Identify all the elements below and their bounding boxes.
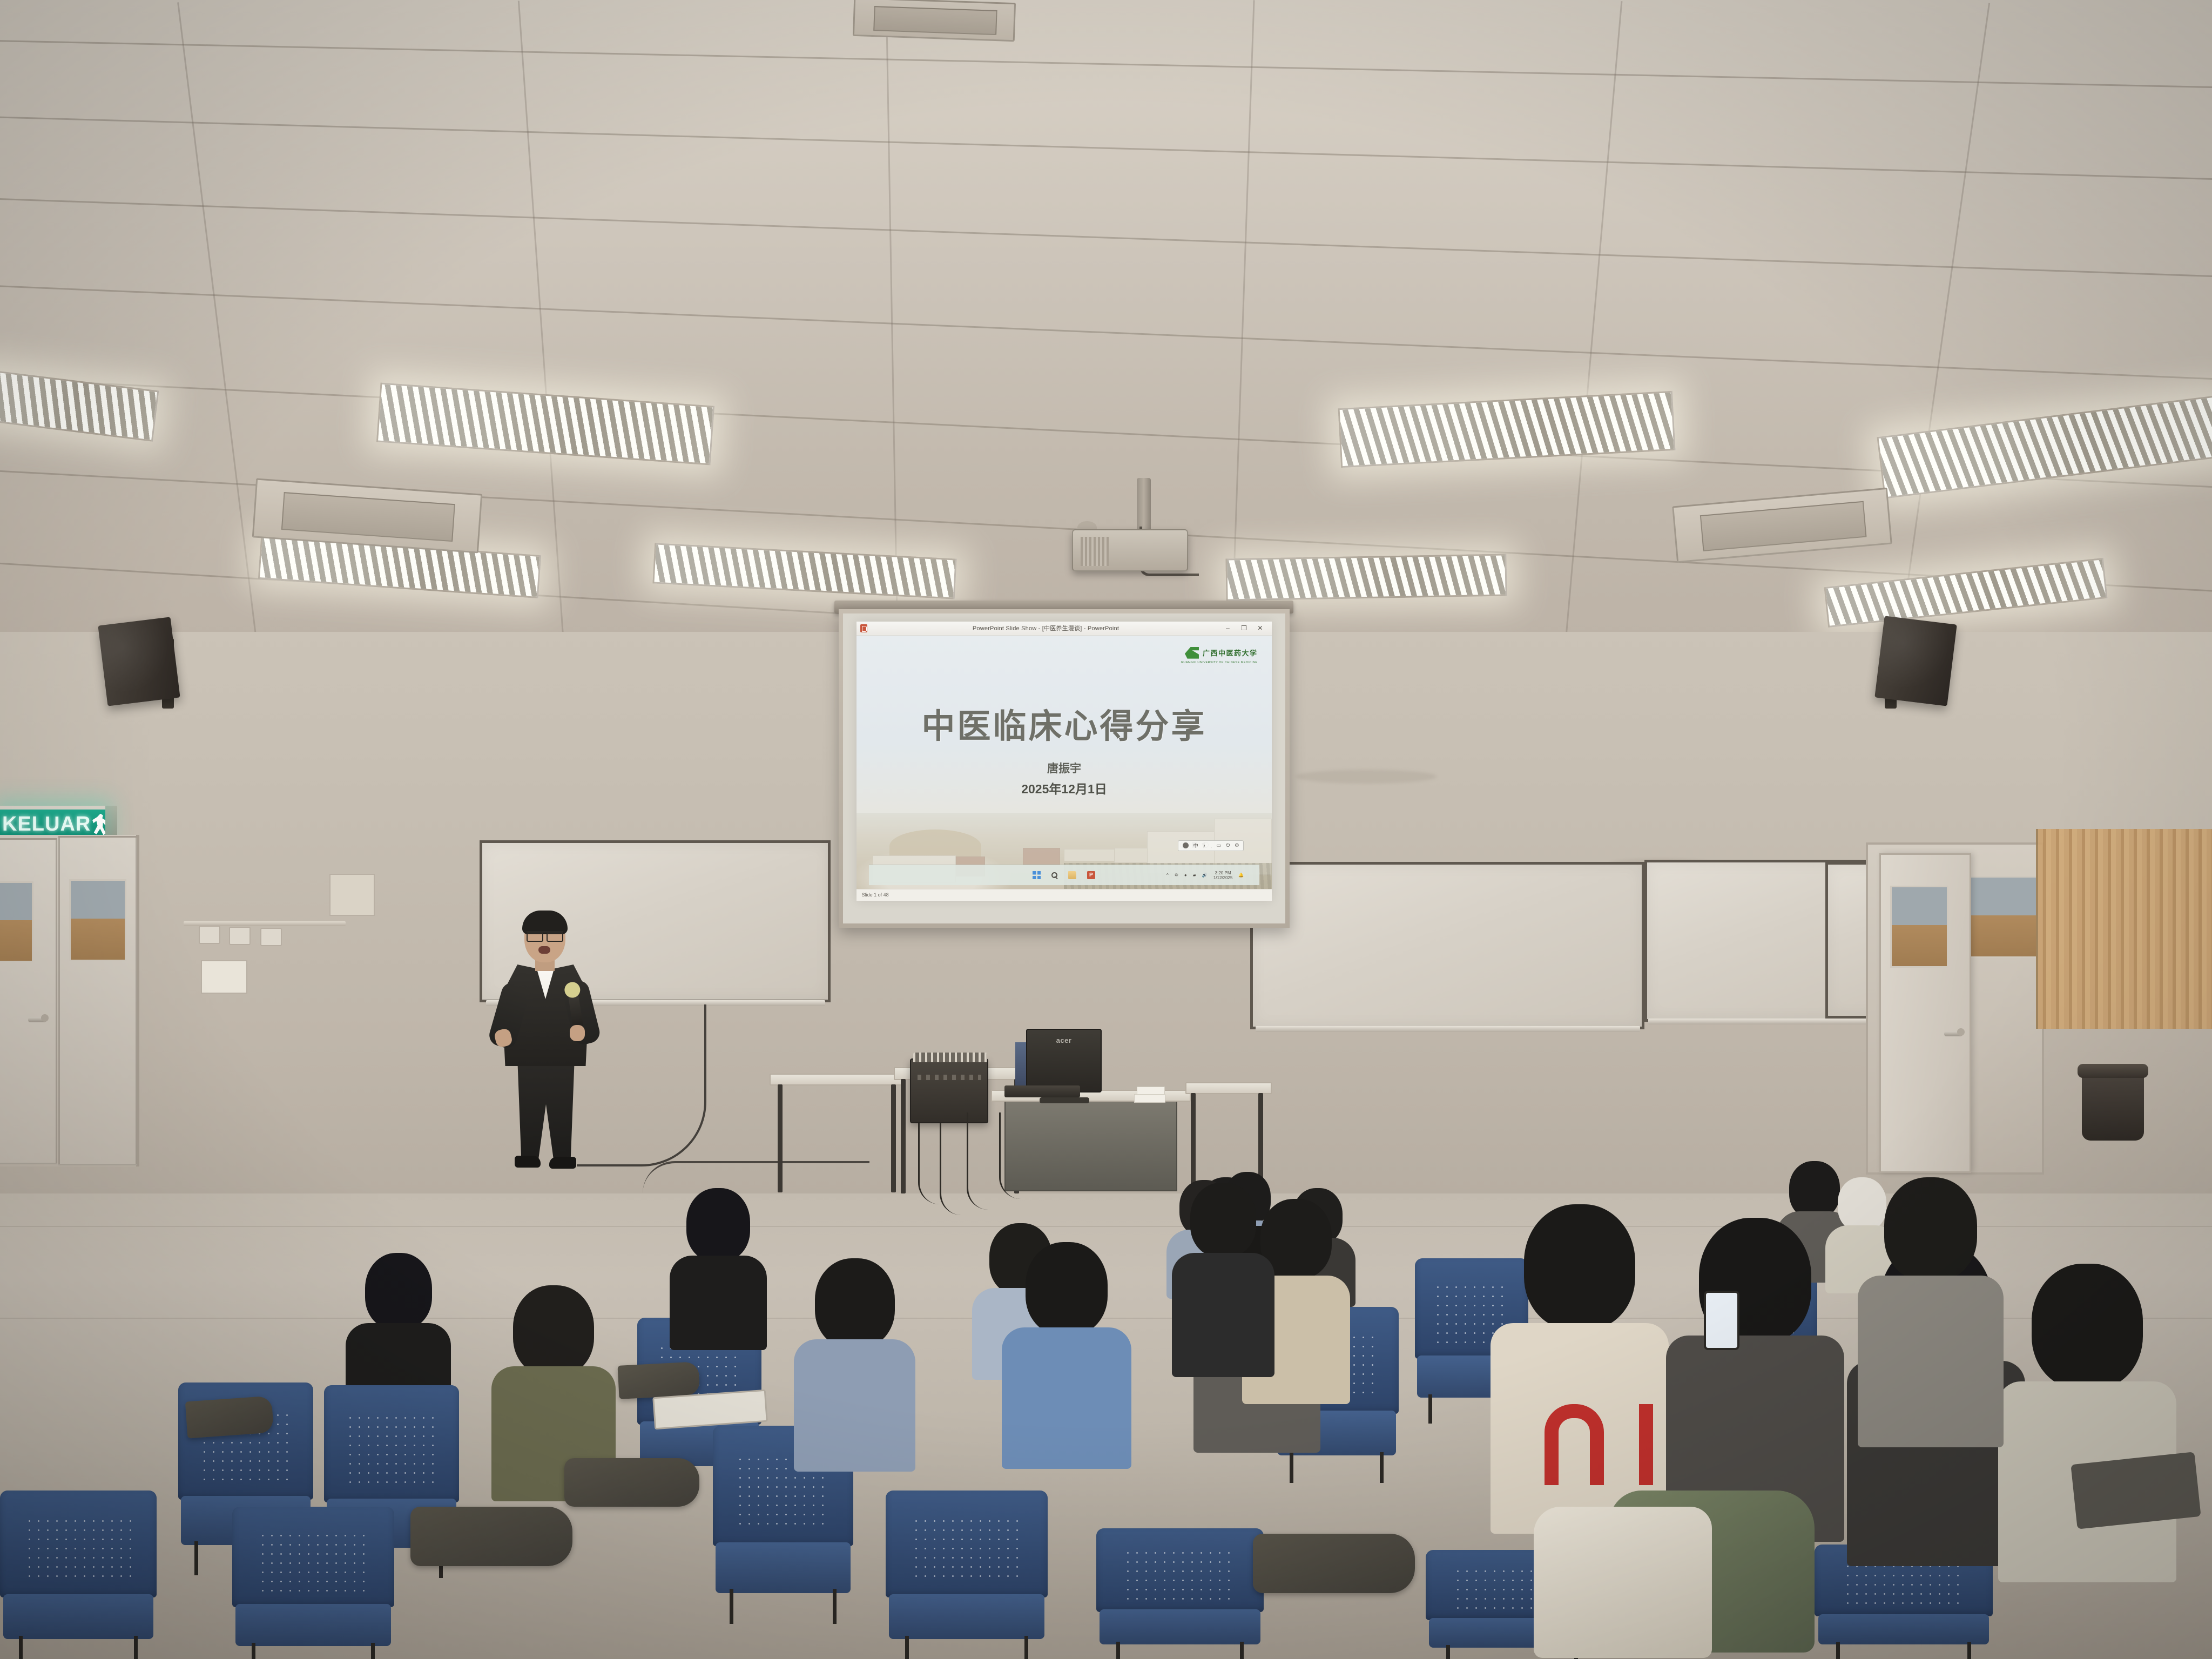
volume-icon[interactable]: 🔊: [1202, 873, 1208, 878]
battery-icon[interactable]: ▰: [1193, 873, 1196, 878]
slide-date: 2025年12月1日: [857, 779, 1272, 797]
logo-english-name: GUANGXI UNIVERSITY OF CHINESE MEDICINE: [1181, 661, 1258, 664]
wall-speaker-right: [1874, 616, 1957, 706]
ime-language-bar: 中 ♪ , ▭ ⏻ ⚙: [1178, 840, 1244, 851]
exit-sign-label: KELUAR: [2, 813, 91, 836]
wood-wall-panel: [2036, 829, 2212, 1029]
file-explorer-icon[interactable]: [1068, 871, 1076, 879]
eyeglasses-icon: [527, 931, 563, 938]
clock-time: 3:20 PM: [1213, 871, 1233, 875]
powerpoint-icon[interactable]: [1087, 871, 1095, 879]
ime-softkeyboard-icon[interactable]: ▭: [1217, 842, 1222, 848]
chair-tablet-arm: [1253, 1534, 1415, 1593]
wall-socket[interactable]: [260, 928, 282, 946]
wall-socket[interactable]: [199, 926, 220, 944]
onedrive-icon[interactable]: ●: [1184, 873, 1187, 878]
presenter-legs: [514, 1060, 578, 1161]
chair-tablet-arm: [617, 1361, 700, 1399]
chair-tablet-arm: [564, 1458, 699, 1507]
audience-member: [1002, 1242, 1131, 1469]
audience-member: [1172, 1183, 1274, 1377]
jacket-on-chair: [1534, 1507, 1712, 1658]
microphone-cable: [577, 1004, 706, 1166]
slide-author: 唐振宇: [857, 760, 1272, 776]
whiteboard-tray-center-right: [1256, 1026, 1640, 1032]
monitor-brand-label: acer: [1027, 1036, 1101, 1044]
notification-icon[interactable]: 🔔: [1238, 873, 1244, 878]
powerpoint-title-bar: PowerPoint Slide Show - [中医养生漫谈] - Power…: [857, 622, 1272, 636]
system-tray: ^ ♽ ● ▰ 🔊 3:20 PM 1/12/2025 🔔: [1166, 871, 1244, 880]
whiteboard-center-right: [1250, 862, 1644, 1029]
wall-socket[interactable]: [229, 927, 251, 945]
projection-screen: PowerPoint Slide Show - [中医养生漫谈] - Power…: [839, 609, 1290, 928]
chair-tablet-arm: [410, 1507, 572, 1566]
no-network-icon[interactable]: ♽: [1175, 873, 1178, 878]
cable-bundle: [999, 1112, 1037, 1199]
audience-member: [1998, 1264, 2176, 1582]
tablet-device[interactable]: [2071, 1452, 2201, 1529]
audience-member: [670, 1188, 767, 1350]
presenter-mouth: [538, 946, 550, 954]
table-leg: [901, 1079, 906, 1193]
ceiling: [0, 0, 2212, 637]
shirt-graphic-n: [1545, 1404, 1604, 1485]
whiteboard-tray-right: [1648, 1019, 1875, 1024]
plastic-chair: [842, 1042, 899, 1137]
lecture-chair[interactable]: [232, 1507, 394, 1659]
minimize-button[interactable]: –: [1224, 625, 1231, 631]
exit-sign: KELUAR: [0, 806, 105, 839]
air-conditioning-vent: [853, 0, 1016, 42]
door-left-window-a: [0, 881, 33, 962]
running-person-exit-icon: [91, 814, 105, 835]
slide-counter: Slide 1 of 48: [862, 892, 889, 898]
wall-speaker-left: [98, 617, 180, 706]
audience-member: [1858, 1177, 2004, 1447]
door-right-window-open: [1890, 886, 1948, 968]
ime-settings-icon[interactable]: ⚙: [1235, 842, 1239, 848]
user-avatar-icon[interactable]: [1183, 842, 1189, 848]
start-icon[interactable]: [1033, 871, 1041, 879]
lecture-hall-photo: KELUAR PowerPoint Sli: [0, 0, 2212, 1659]
wall-sticker-group: [329, 874, 375, 916]
door-right-window-fixed: [1969, 876, 2038, 958]
restore-button[interactable]: ❐: [1240, 625, 1247, 631]
lecture-chair[interactable]: [1096, 1528, 1264, 1659]
logo-chinese-name: 广西中医药大学: [1203, 648, 1258, 658]
search-icon[interactable]: [1051, 872, 1057, 878]
ime-mode-chinese[interactable]: 中: [1193, 842, 1198, 849]
powerpoint-window: PowerPoint Slide Show - [中医养生漫谈] - Power…: [857, 622, 1272, 901]
window-title: PowerPoint Slide Show - [中医养生漫谈] - Power…: [867, 624, 1225, 632]
desktop-monitor: acer: [1026, 1029, 1102, 1092]
ime-halfwidth-icon[interactable]: ,: [1210, 843, 1212, 848]
lecture-chair[interactable]: [886, 1491, 1048, 1659]
ceiling-light-fixture: [1225, 554, 1507, 601]
exit-sign-mount: [105, 806, 117, 839]
trash-bin: [2082, 1069, 2144, 1141]
powerpoint-icon: [860, 624, 867, 632]
table-leg: [778, 1084, 783, 1192]
university-logo: 广西中医药大学 GUANGXI UNIVERSITY OF CHINESE ME…: [1181, 646, 1258, 664]
leaf-logo-icon: [1184, 646, 1200, 660]
chevron-up-icon[interactable]: ^: [1166, 873, 1169, 878]
shirt-graphic-bar: [1639, 1404, 1653, 1485]
ime-punctuation-icon[interactable]: ♪: [1203, 843, 1206, 848]
wall-notice: [201, 960, 247, 994]
ime-voice-icon[interactable]: ⏻: [1226, 842, 1230, 848]
close-button[interactable]: ✕: [1257, 625, 1263, 631]
door-left-handle-a[interactable]: [28, 1017, 46, 1022]
clock-date: 1/12/2025: [1213, 875, 1233, 880]
door-left-window-b: [69, 879, 126, 961]
ceiling-projector: [1072, 529, 1188, 571]
chair-tablet-arm: [185, 1396, 274, 1439]
windows-taskbar: ^ ♽ ● ▰ 🔊 3:20 PM 1/12/2025 🔔: [869, 865, 1260, 885]
smartphone[interactable]: [1704, 1291, 1739, 1350]
side-table-right: [1185, 1082, 1272, 1094]
slide-title: 中医临床心得分享: [857, 699, 1272, 747]
door-right-handle[interactable]: [1944, 1031, 1963, 1036]
presenter-shoe-right: [549, 1157, 576, 1169]
audience-member: [794, 1258, 915, 1472]
lecture-chair[interactable]: [0, 1491, 157, 1659]
slide-canvas: 广西中医药大学 GUANGXI UNIVERSITY OF CHINESE ME…: [857, 636, 1272, 889]
powerpoint-status-bar: Slide 1 of 48: [857, 889, 1272, 901]
monitor-base: [1040, 1097, 1089, 1103]
desk-paper: [1134, 1094, 1165, 1103]
presenter-shoe-left: [515, 1156, 541, 1168]
keyboard[interactable]: [1004, 1085, 1080, 1097]
taskbar-clock[interactable]: 3:20 PM 1/12/2025: [1213, 871, 1233, 880]
